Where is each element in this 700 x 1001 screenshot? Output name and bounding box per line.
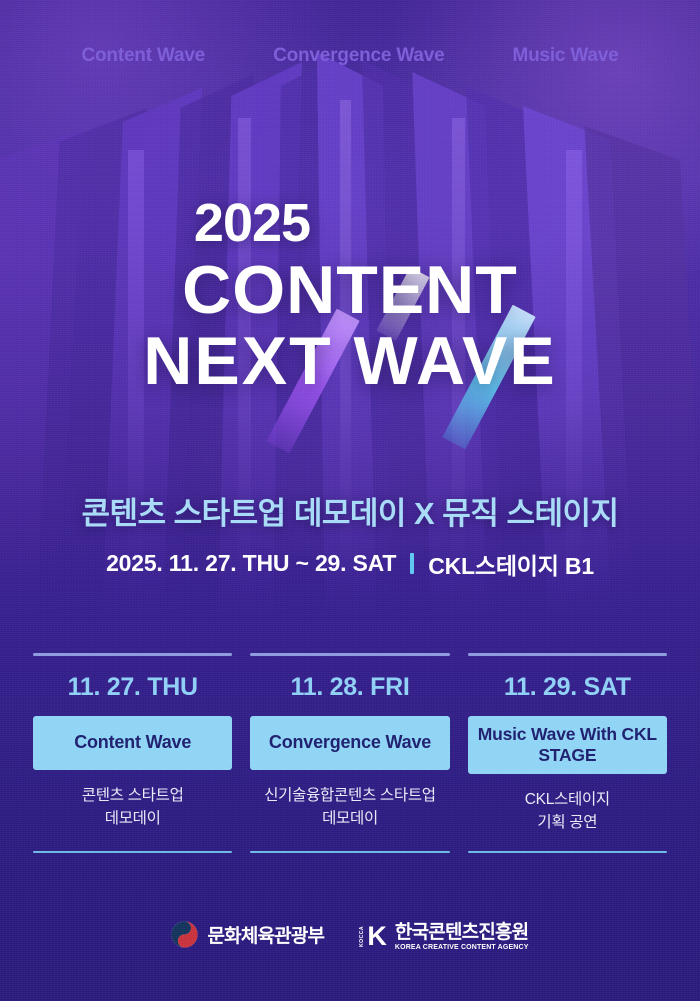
schedule-column-day2: 11. 28. FRI Convergence Wave 신기술융합콘텐츠 스타… <box>250 653 449 853</box>
logo-year: 2025 <box>0 196 700 250</box>
logo-mcst: 문화체육관광부 <box>171 921 324 953</box>
schedule-badge-day1: Content Wave <box>33 716 232 770</box>
logo-kocca-text: 한국콘텐츠진흥원 KOREA CREATIVE CONTENT AGENCY <box>395 923 529 952</box>
header-label-content-wave: Content Wave <box>81 45 205 67</box>
kocca-vertical-label: KOCCA <box>360 924 365 949</box>
schedule-date-day1: 11. 27. THU <box>68 673 198 702</box>
schedule-desc-day3-line2: 기획 공연 <box>525 811 610 834</box>
schedule-rule-bottom <box>468 851 667 853</box>
schedule-badge-day3: Music Wave With CKL STAGE <box>468 716 667 774</box>
schedule-desc-day1: 콘텐츠 스타트업 데모데이 <box>82 784 184 831</box>
schedule-date-day2: 11. 28. FRI <box>290 673 409 702</box>
venue-name: CKL스테이지 B1 <box>428 547 594 581</box>
schedule-column-day3: 11. 29. SAT Music Wave With CKL STAGE CK… <box>468 653 667 853</box>
logo-wordmark-wrap: CONTENT NEXT WAVE <box>0 258 700 395</box>
schedule-desc-day2-line1: 신기술융합콘텐츠 스타트업 <box>264 784 436 807</box>
header-wave-labels: Content Wave Convergence Wave Music Wave <box>0 45 700 67</box>
kocca-k-icon: KOCCA K <box>360 924 386 949</box>
schedule-desc-day3-line1: CKL스테이지 <box>525 788 610 811</box>
schedule-desc-day1-line1: 콘텐츠 스타트업 <box>82 784 184 807</box>
schedule-desc-day2-line2: 데모데이 <box>264 807 436 830</box>
main-logo-block: 2025 CONTENT NEXT WAVE <box>0 196 700 395</box>
subtitle-block: 콘텐츠 스타트업 데모데이 X 뮤직 스테이지 2025. 11. 27. TH… <box>0 495 700 581</box>
poster-root: Content Wave Convergence Wave Music Wave… <box>0 0 700 1001</box>
date-venue-separator-icon <box>410 553 414 574</box>
schedule-desc-day2: 신기술융합콘텐츠 스타트업 데모데이 <box>264 784 436 831</box>
date-venue-line: 2025. 11. 27. THU ~ 29. SAT CKL스테이지 B1 <box>0 547 700 581</box>
logo-mcst-label: 문화체육관광부 <box>207 927 324 948</box>
schedule-rule-bottom <box>33 851 232 853</box>
header-label-convergence-wave: Convergence Wave <box>273 45 444 67</box>
schedule-column-day1: 11. 27. THU Content Wave 콘텐츠 스타트업 데모데이 <box>33 653 232 853</box>
logo-kocca-label-ko: 한국콘텐츠진흥원 <box>395 923 529 944</box>
kocca-letter-k: K <box>367 924 386 949</box>
subtitle-korean: 콘텐츠 스타트업 데모데이 X 뮤직 스테이지 <box>0 495 700 534</box>
footer-logos: 문화체육관광부 KOCCA K 한국콘텐츠진흥원 KOREA CREATIVE … <box>0 921 700 953</box>
schedule-rule-bottom <box>250 851 449 853</box>
schedule-desc-day1-line2: 데모데이 <box>82 807 184 830</box>
logo-line-next-wave: NEXT WAVE <box>0 329 700 394</box>
date-range: 2025. 11. 27. THU ~ 29. SAT <box>106 550 396 577</box>
logo-kocca-label-en: KOREA CREATIVE CONTENT AGENCY <box>395 944 529 951</box>
schedule-grid: 11. 27. THU Content Wave 콘텐츠 스타트업 데모데이 1… <box>33 653 667 853</box>
schedule-date-day3: 11. 29. SAT <box>504 673 631 702</box>
schedule-desc-day3: CKL스테이지 기획 공연 <box>525 788 610 835</box>
header-label-music-wave: Music Wave <box>512 45 618 67</box>
schedule-badge-day2: Convergence Wave <box>250 716 449 770</box>
schedule-rule-top <box>33 653 232 656</box>
schedule-rule-top <box>250 653 449 656</box>
schedule-rule-top <box>468 653 667 656</box>
logo-line-content: CONTENT <box>0 258 700 323</box>
logo-kocca: KOCCA K 한국콘텐츠진흥원 KOREA CREATIVE CONTENT … <box>360 923 528 952</box>
taegeuk-icon <box>171 921 198 953</box>
